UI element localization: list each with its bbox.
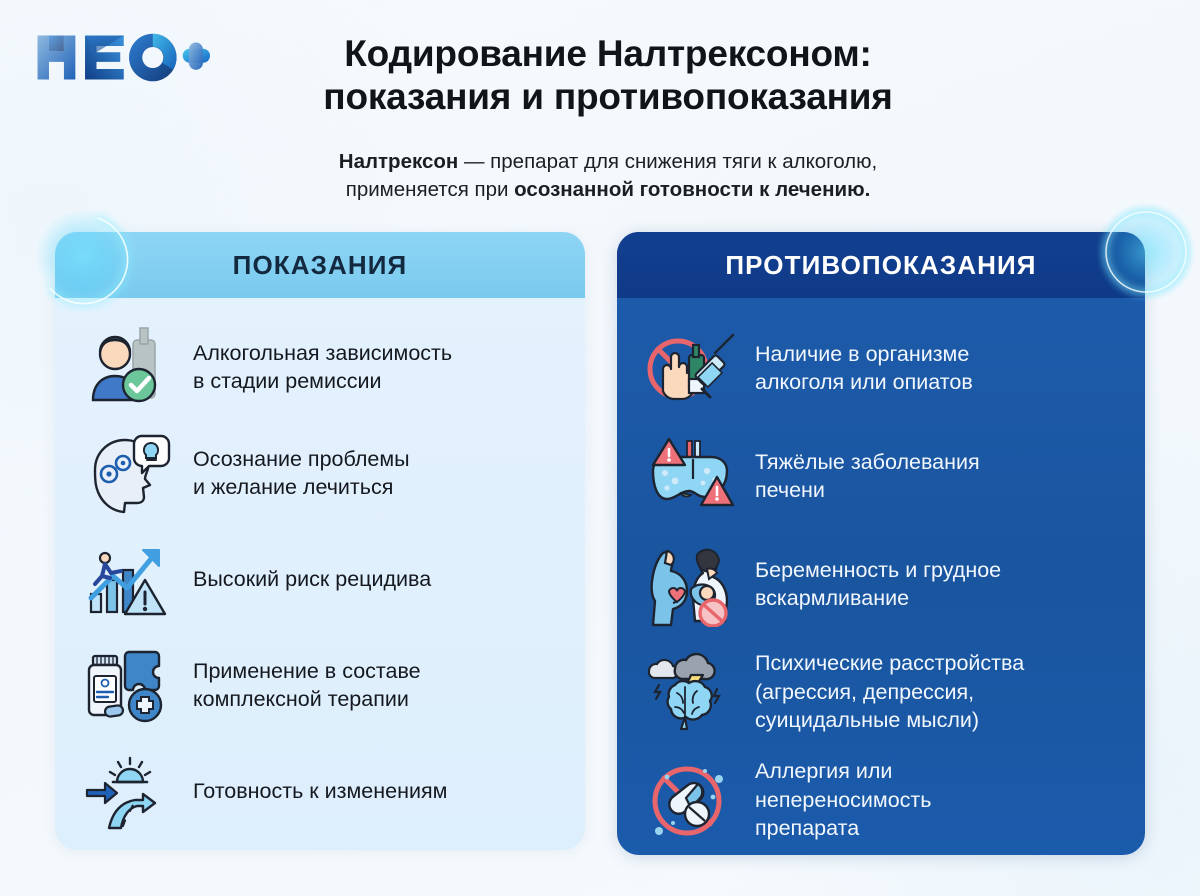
page-title-line-2: показания и противопоказания [228, 75, 988, 118]
list-item-line: Тяжёлые заболевания [755, 448, 980, 476]
list-item-text: Наличие в организме алкоголя или опиатов [755, 340, 973, 397]
page-subtitle-line-2: применяется при осознанной готовности к … [228, 176, 988, 204]
page-subtitle: Налтрексон — препарат для снижения тяги … [228, 148, 988, 205]
page-title-line-1: Кодирование Налтрексоном: [228, 32, 988, 75]
list-item: Наличие в организме алкоголя или опиатов [643, 314, 1119, 422]
list-item-line: Алкогольная зависимость [193, 339, 452, 367]
list-item-line: препарата [755, 814, 931, 842]
contraindications-list: Наличие в организме алкоголя или опиатов [617, 298, 1145, 855]
neo-plus-logo-icon [34, 30, 210, 85]
list-item-line: непереносимость [755, 786, 931, 814]
pill-bottle-puzzle-cross-icon [81, 640, 177, 730]
sunrise-road-arrow-icon [81, 746, 177, 836]
list-item: Тяжёлые заболевания печени [643, 422, 1119, 530]
page-header: Кодирование Налтрексоном: показания и пр… [0, 0, 1200, 212]
indications-card: ПОКАЗАНИЯ Алкогольная зависимость [55, 232, 585, 850]
indications-card-title: ПОКАЗАНИЯ [55, 232, 585, 298]
list-item-line: Осознание проблемы [193, 445, 410, 473]
page-subtitle-line-1: Налтрексон — препарат для снижения тяги … [228, 148, 988, 176]
liver-warning-icon [643, 431, 739, 521]
list-item-line: Высокий риск рецидива [193, 565, 431, 593]
brain-storm-cloud-icon [643, 647, 739, 737]
list-item-line: Беременность и грудное [755, 556, 1001, 584]
list-item-line: Готовность к изменениям [193, 777, 447, 805]
contraindications-card-title: ПРОТИВОПОКАЗАНИЯ [617, 232, 1145, 298]
list-item-text: Аллергия или непереносимость препарата [755, 757, 931, 842]
list-item-line: Применение в составе [193, 657, 421, 685]
page-title: Кодирование Налтрексоном: показания и пр… [228, 32, 988, 119]
person-bottle-check-icon [81, 322, 177, 412]
list-item-line: суицидальные мысли) [755, 706, 1024, 734]
list-item: Психические расстройства (агрессия, депр… [643, 638, 1119, 746]
contraindications-card: ПРОТИВОПОКАЗАНИЯ [617, 232, 1145, 855]
list-item-text: Высокий риск рецидива [193, 565, 431, 593]
list-item-line: вскармливание [755, 584, 1001, 612]
list-item-text: Тяжёлые заболевания печени [755, 448, 980, 505]
list-item-text: Применение в составе комплексной терапии [193, 657, 421, 714]
list-item-line: в стадии ремиссии [193, 367, 452, 395]
pregnancy-breastfeeding-ban-icon [643, 539, 739, 629]
list-item: Аллергия или непереносимость препарата [643, 746, 1119, 854]
indications-list: Алкогольная зависимость в стадии ремисси… [55, 298, 585, 850]
list-item: Осознание проблемы и желание лечиться [81, 420, 559, 526]
list-item-line: алкоголя или опиатов [755, 368, 973, 396]
list-item-text: Психические расстройства (агрессия, депр… [755, 649, 1024, 734]
list-item-line: печени [755, 476, 980, 504]
list-item-text: Осознание проблемы и желание лечиться [193, 445, 410, 502]
list-item: Алкогольная зависимость в стадии ремисси… [81, 314, 559, 420]
subtitle-line-2-rest: применяется при [346, 178, 514, 201]
rising-chart-warning-icon [81, 534, 177, 624]
list-item: Применение в составе комплексной терапии [81, 632, 559, 738]
subtitle-line-1-rest: — препарат для снижения тяги к алкоголю, [458, 150, 877, 173]
list-item-line: Психические расстройства [755, 649, 1024, 677]
list-item-line: Наличие в организме [755, 340, 973, 368]
list-item-line: (агрессия, депрессия, [755, 678, 1024, 706]
list-item-text: Беременность и грудное вскармливание [755, 556, 1001, 613]
list-item: Высокий риск рецидива [81, 526, 559, 632]
stop-hand-bottle-syringe-icon [643, 323, 739, 413]
list-item: Беременность и грудное вскармливание [643, 530, 1119, 638]
list-item: Готовность к изменениям [81, 738, 559, 844]
brand-logo [34, 28, 214, 86]
subtitle-emphasis: осознанной готовности к лечению. [514, 178, 870, 201]
list-item-line: и желание лечиться [193, 473, 410, 501]
subtitle-drug-name: Налтрексон [339, 150, 459, 173]
list-item-line: комплексной терапии [193, 685, 421, 713]
list-item-text: Алкогольная зависимость в стадии ремисси… [193, 339, 452, 396]
list-item-line: Аллергия или [755, 757, 931, 785]
list-item-text: Готовность к изменениям [193, 777, 447, 805]
pills-ban-icon [643, 755, 739, 845]
head-gears-lightbulb-icon [81, 428, 177, 518]
